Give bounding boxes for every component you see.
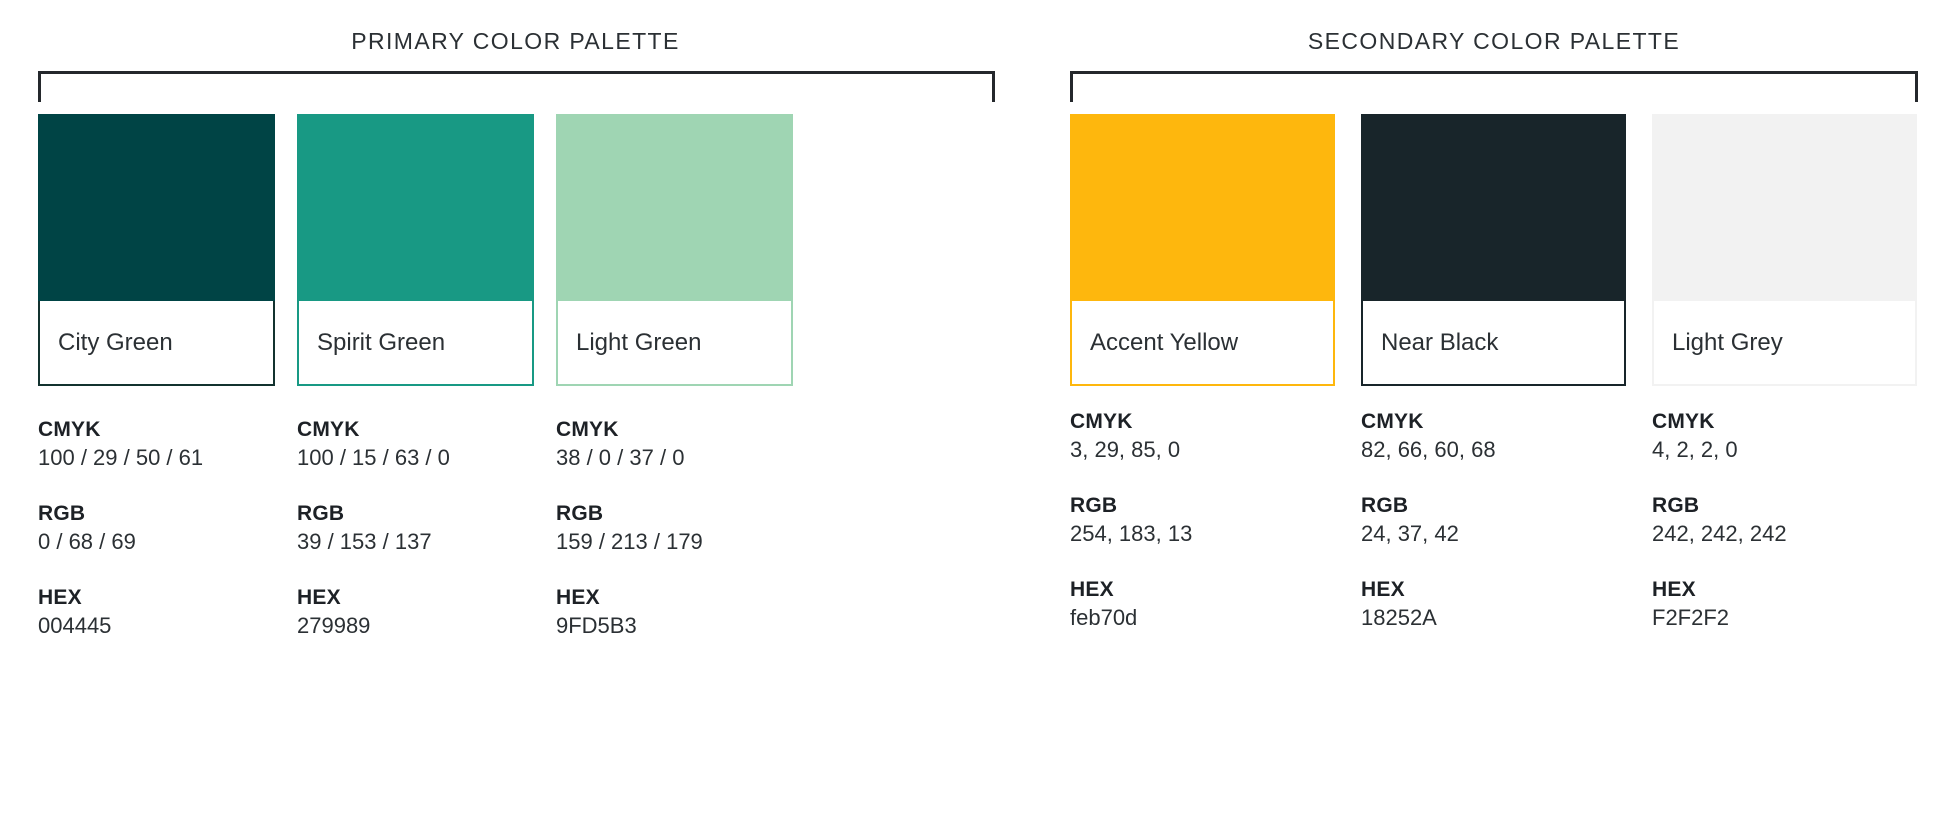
color-chip[interactable] bbox=[1361, 114, 1626, 301]
rgb-value: 254, 183, 13 bbox=[1070, 520, 1335, 549]
rgb-value: 24, 37, 42 bbox=[1361, 520, 1626, 549]
swatch-city-green[interactable]: City Green CMYK 100 / 29 / 50 / 61 RGB 0… bbox=[38, 114, 275, 641]
color-name: City Green bbox=[58, 331, 173, 355]
rgb-value: 39 / 153 / 137 bbox=[297, 528, 534, 557]
hex-group: HEX 004445 bbox=[38, 584, 275, 641]
cmyk-value: 4, 2, 2, 0 bbox=[1652, 436, 1917, 465]
color-specs: CMYK 4, 2, 2, 0 RGB 242, 242, 242 HEX F2… bbox=[1652, 408, 1917, 633]
primary-palette-title: PRIMARY COLOR PALETTE bbox=[38, 30, 993, 53]
rgb-label: RGB bbox=[1361, 492, 1626, 520]
color-specs: CMYK 100 / 15 / 63 / 0 RGB 39 / 153 / 13… bbox=[297, 416, 534, 641]
cmyk-label: CMYK bbox=[1652, 408, 1917, 436]
rgb-value: 0 / 68 / 69 bbox=[38, 528, 275, 557]
color-specs: CMYK 3, 29, 85, 0 RGB 254, 183, 13 HEX f… bbox=[1070, 408, 1335, 633]
color-nameplate: City Green bbox=[38, 301, 275, 386]
rgb-group: RGB 242, 242, 242 bbox=[1652, 492, 1917, 549]
cmyk-value: 82, 66, 60, 68 bbox=[1361, 436, 1626, 465]
hex-label: HEX bbox=[38, 584, 275, 612]
swatch-light-grey[interactable]: Light Grey CMYK 4, 2, 2, 0 RGB 242, 242,… bbox=[1652, 114, 1917, 633]
cmyk-group: CMYK 4, 2, 2, 0 bbox=[1652, 408, 1917, 465]
rgb-label: RGB bbox=[556, 500, 793, 528]
hex-value: F2F2F2 bbox=[1652, 604, 1917, 633]
cmyk-group: CMYK 38 / 0 / 37 / 0 bbox=[556, 416, 793, 473]
hex-group: HEX 9FD5B3 bbox=[556, 584, 793, 641]
hex-group: HEX 279989 bbox=[297, 584, 534, 641]
rgb-group: RGB 254, 183, 13 bbox=[1070, 492, 1335, 549]
cmyk-group: CMYK 100 / 15 / 63 / 0 bbox=[297, 416, 534, 473]
cmyk-label: CMYK bbox=[1070, 408, 1335, 436]
hex-label: HEX bbox=[297, 584, 534, 612]
hex-group: HEX feb70d bbox=[1070, 576, 1335, 633]
hex-label: HEX bbox=[1652, 576, 1917, 604]
cmyk-value: 100 / 15 / 63 / 0 bbox=[297, 444, 534, 473]
color-nameplate: Accent Yellow bbox=[1070, 301, 1335, 386]
rgb-value: 159 / 213 / 179 bbox=[556, 528, 793, 557]
color-chip[interactable] bbox=[297, 114, 534, 301]
hex-label: HEX bbox=[1070, 576, 1335, 604]
primary-palette-section: PRIMARY COLOR PALETTE City Green CMYK 10… bbox=[38, 0, 998, 641]
swatch-accent-yellow[interactable]: Accent Yellow CMYK 3, 29, 85, 0 RGB 254,… bbox=[1070, 114, 1335, 633]
color-palette-sheet: PRIMARY COLOR PALETTE City Green CMYK 10… bbox=[0, 0, 1956, 822]
color-nameplate: Light Green bbox=[556, 301, 793, 386]
cmyk-label: CMYK bbox=[1361, 408, 1626, 436]
color-chip[interactable] bbox=[556, 114, 793, 301]
swatch-light-green[interactable]: Light Green CMYK 38 / 0 / 37 / 0 RGB 159… bbox=[556, 114, 793, 641]
swatch-near-black[interactable]: Near Black CMYK 82, 66, 60, 68 RGB 24, 3… bbox=[1361, 114, 1626, 633]
color-specs: CMYK 38 / 0 / 37 / 0 RGB 159 / 213 / 179… bbox=[556, 416, 793, 641]
cmyk-group: CMYK 3, 29, 85, 0 bbox=[1070, 408, 1335, 465]
cmyk-value: 38 / 0 / 37 / 0 bbox=[556, 444, 793, 473]
cmyk-group: CMYK 82, 66, 60, 68 bbox=[1361, 408, 1626, 465]
primary-palette-bracket bbox=[38, 71, 995, 101]
rgb-group: RGB 159 / 213 / 179 bbox=[556, 500, 793, 557]
rgb-label: RGB bbox=[1652, 492, 1917, 520]
hex-value: feb70d bbox=[1070, 604, 1335, 633]
rgb-group: RGB 0 / 68 / 69 bbox=[38, 500, 275, 557]
swatch-spirit-green[interactable]: Spirit Green CMYK 100 / 15 / 63 / 0 RGB … bbox=[297, 114, 534, 641]
color-specs: CMYK 82, 66, 60, 68 RGB 24, 37, 42 HEX 1… bbox=[1361, 408, 1626, 633]
color-nameplate: Light Grey bbox=[1652, 301, 1917, 386]
cmyk-label: CMYK bbox=[297, 416, 534, 444]
rgb-value: 242, 242, 242 bbox=[1652, 520, 1917, 549]
rgb-group: RGB 39 / 153 / 137 bbox=[297, 500, 534, 557]
color-chip[interactable] bbox=[1652, 114, 1917, 301]
color-nameplate: Near Black bbox=[1361, 301, 1626, 386]
secondary-swatch-row: Accent Yellow CMYK 3, 29, 85, 0 RGB 254,… bbox=[1070, 114, 1918, 633]
color-specs: CMYK 100 / 29 / 50 / 61 RGB 0 / 68 / 69 … bbox=[38, 416, 275, 641]
color-name: Light Green bbox=[576, 331, 701, 355]
color-nameplate: Spirit Green bbox=[297, 301, 534, 386]
cmyk-value: 100 / 29 / 50 / 61 bbox=[38, 444, 275, 473]
primary-swatch-row: City Green CMYK 100 / 29 / 50 / 61 RGB 0… bbox=[38, 114, 998, 641]
hex-value: 18252A bbox=[1361, 604, 1626, 633]
hex-group: HEX F2F2F2 bbox=[1652, 576, 1917, 633]
rgb-label: RGB bbox=[1070, 492, 1335, 520]
color-name: Accent Yellow bbox=[1090, 331, 1238, 355]
color-name: Near Black bbox=[1381, 331, 1498, 355]
hex-group: HEX 18252A bbox=[1361, 576, 1626, 633]
hex-value: 004445 bbox=[38, 612, 275, 641]
color-chip[interactable] bbox=[1070, 114, 1335, 301]
rgb-label: RGB bbox=[38, 500, 275, 528]
hex-label: HEX bbox=[556, 584, 793, 612]
color-name: Light Grey bbox=[1672, 331, 1783, 355]
hex-label: HEX bbox=[1361, 576, 1626, 604]
color-chip[interactable] bbox=[38, 114, 275, 301]
cmyk-label: CMYK bbox=[556, 416, 793, 444]
hex-value: 9FD5B3 bbox=[556, 612, 793, 641]
rgb-group: RGB 24, 37, 42 bbox=[1361, 492, 1626, 549]
secondary-palette-section: SECONDARY COLOR PALETTE Accent Yellow CM… bbox=[1070, 0, 1918, 633]
hex-value: 279989 bbox=[297, 612, 534, 641]
color-name: Spirit Green bbox=[317, 331, 445, 355]
secondary-palette-title: SECONDARY COLOR PALETTE bbox=[1070, 30, 1918, 53]
cmyk-group: CMYK 100 / 29 / 50 / 61 bbox=[38, 416, 275, 473]
secondary-palette-bracket bbox=[1070, 71, 1918, 101]
cmyk-value: 3, 29, 85, 0 bbox=[1070, 436, 1335, 465]
rgb-label: RGB bbox=[297, 500, 534, 528]
cmyk-label: CMYK bbox=[38, 416, 275, 444]
